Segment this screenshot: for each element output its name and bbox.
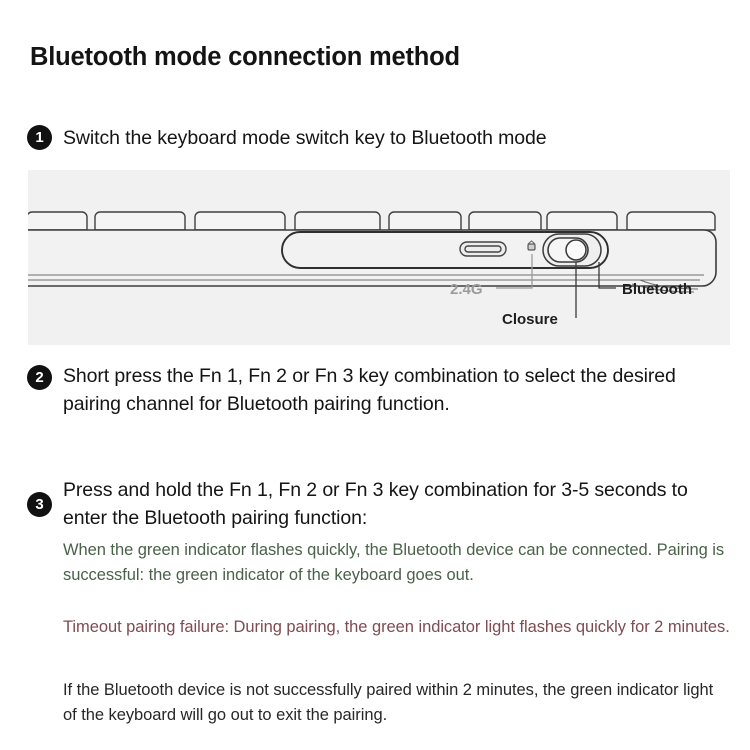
callout-bluetooth: Bluetooth <box>622 281 692 298</box>
step-1-text: Switch the keyboard mode switch key to B… <box>63 124 547 152</box>
step-1-badge: 1 <box>27 125 52 150</box>
callout-2-4g: 2.4G <box>450 281 483 298</box>
step-1: 1 Switch the keyboard mode switch key to… <box>27 124 547 152</box>
step-2-text: Short press the Fn 1, Fn 2 or Fn 3 key c… <box>63 362 727 418</box>
note-exit-pairing: If the Bluetooth device is not successfu… <box>63 678 731 728</box>
mode-switch <box>543 234 601 266</box>
note-pairing-success: When the green indicator flashes quickly… <box>63 538 731 588</box>
note-timeout-failure: Timeout pairing failure: During pairing,… <box>63 615 731 640</box>
step-3-badge: 3 <box>27 492 52 517</box>
step-3: 3 Press and hold the Fn 1, Fn 2 or Fn 3 … <box>27 476 727 532</box>
instruction-page: Bluetooth mode connection method 1 Switc… <box>0 0 750 750</box>
page-title: Bluetooth mode connection method <box>30 43 460 72</box>
keycap-row <box>28 212 715 230</box>
step-2: 2 Short press the Fn 1, Fn 2 or Fn 3 key… <box>27 362 727 418</box>
step-3-text: Press and hold the Fn 1, Fn 2 or Fn 3 ke… <box>63 476 727 532</box>
keyboard-diagram: 2.4G Closure Bluetooth <box>28 170 730 345</box>
callout-closure: Closure <box>502 311 558 328</box>
step-2-badge: 2 <box>27 365 52 390</box>
keyboard-diagram-svg: 2.4G Closure Bluetooth <box>28 170 730 345</box>
